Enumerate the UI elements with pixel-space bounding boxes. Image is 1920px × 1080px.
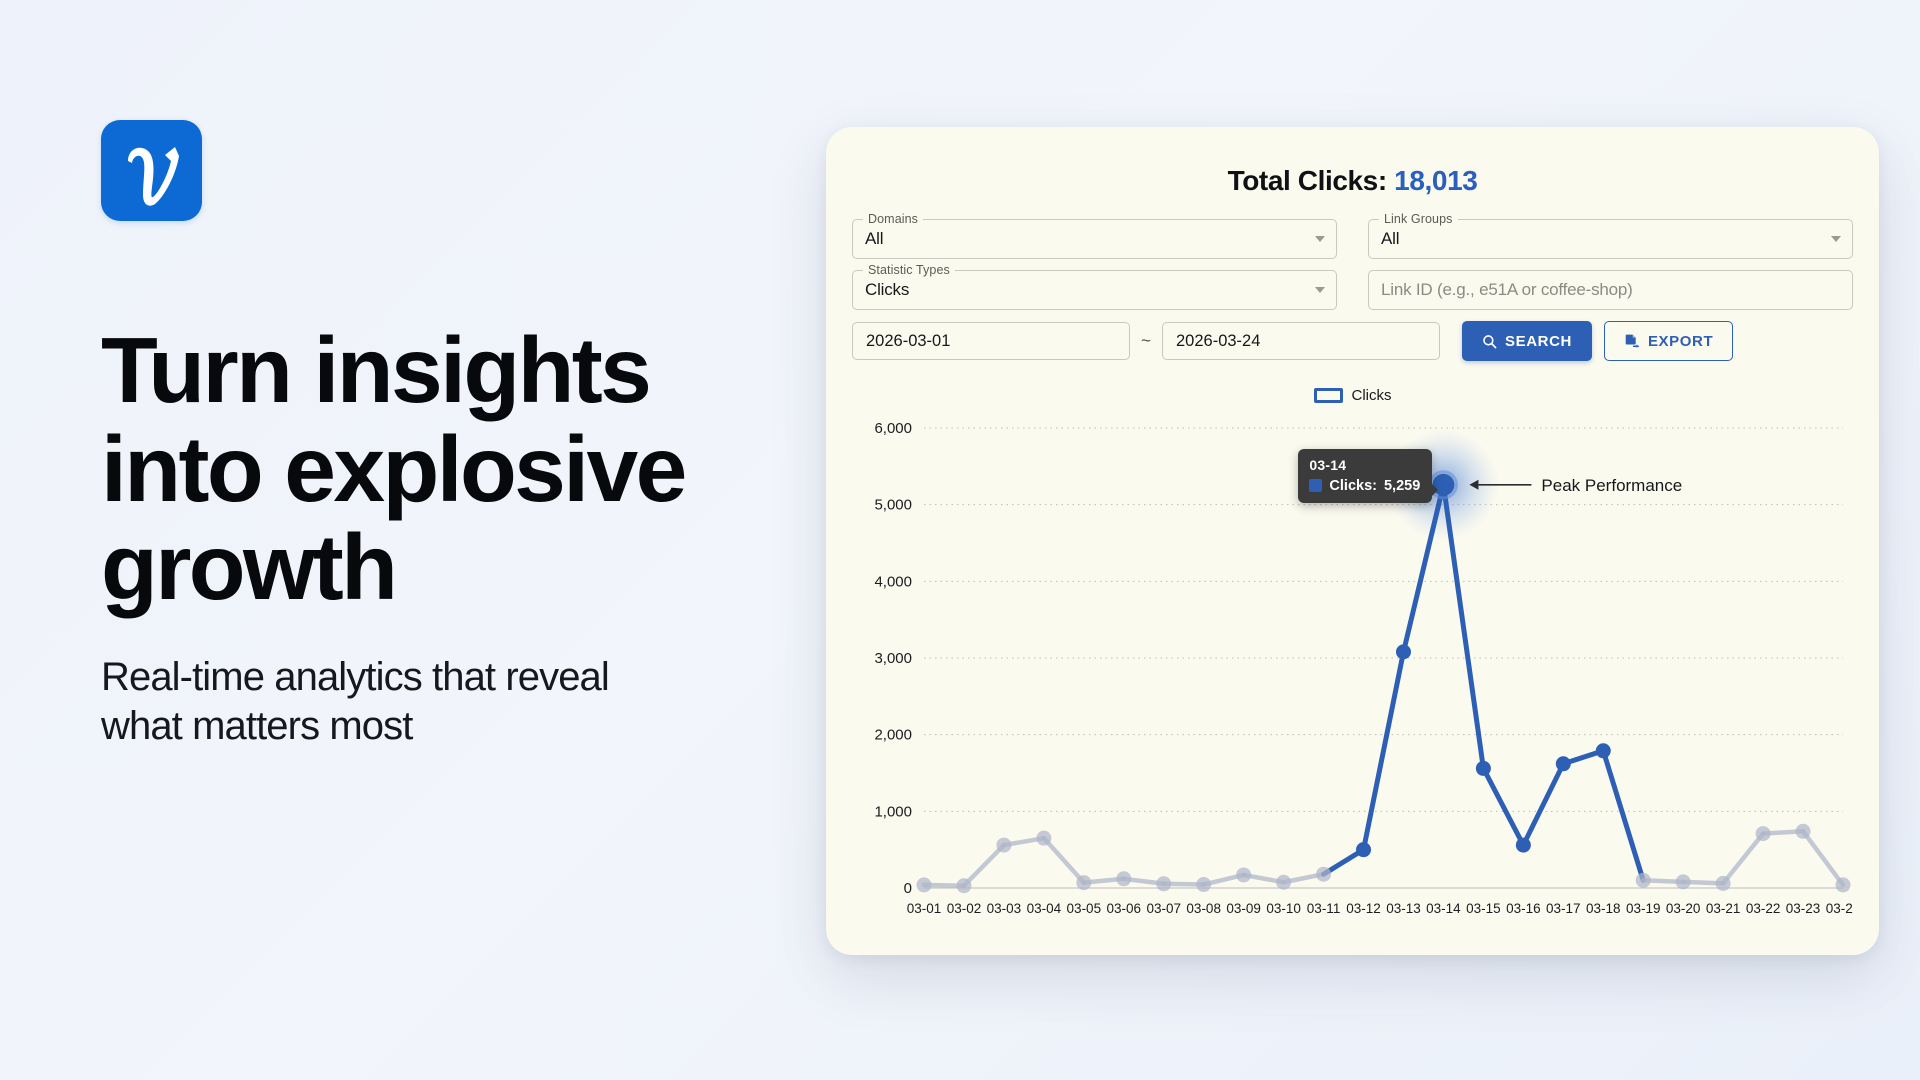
svg-text:03-16: 03-16 xyxy=(1506,901,1541,916)
total-clicks-heading: Total Clicks: 18,013 xyxy=(852,165,1853,197)
svg-text:03-09: 03-09 xyxy=(1226,901,1261,916)
filter-panel: Domains All Link Groups All Statistic Ty… xyxy=(852,219,1853,361)
svg-text:03-24: 03-24 xyxy=(1826,901,1853,916)
filter-row-1: Domains All Link Groups All xyxy=(852,219,1853,259)
link-groups-select[interactable]: Link Groups All xyxy=(1368,219,1853,259)
svg-text:03-19: 03-19 xyxy=(1626,901,1661,916)
tooltip-value: 5,259 xyxy=(1384,478,1420,494)
analytics-card: Total Clicks: 18,013 Domains All Link Gr… xyxy=(826,127,1879,955)
svg-text:3,000: 3,000 xyxy=(874,650,912,667)
svg-text:03-22: 03-22 xyxy=(1746,901,1781,916)
chart-annotations: Peak Performance xyxy=(1469,476,1682,495)
link-id-placeholder: Link ID (e.g., e51A or coffee-shop) xyxy=(1381,280,1633,300)
chevron-down-icon[interactable] xyxy=(1831,236,1841,242)
svg-text:03-15: 03-15 xyxy=(1466,901,1501,916)
total-clicks-value: 18,013 xyxy=(1394,165,1477,196)
svg-text:03-02: 03-02 xyxy=(947,901,982,916)
svg-text:4,000: 4,000 xyxy=(874,573,912,590)
export-button-label: EXPORT xyxy=(1648,333,1713,350)
tooltip-date: 03-14 xyxy=(1309,457,1420,473)
chart-y-axis: 01,0002,0003,0004,0005,0006,000 xyxy=(874,420,912,897)
domains-select[interactable]: Domains All xyxy=(852,219,1337,259)
svg-text:03-04: 03-04 xyxy=(1027,901,1062,916)
search-button[interactable]: SEARCH xyxy=(1462,321,1592,361)
total-clicks-label: Total Clicks: xyxy=(1228,165,1387,196)
chart-tooltip: 03-14 Clicks: 5,259 xyxy=(1298,449,1432,503)
export-file-icon xyxy=(1624,333,1640,349)
filter-row-3: 2026-03-01 ~ 2026-03-24 SEARCH xyxy=(852,321,1853,361)
page-title: Turn insights into explosive growth xyxy=(101,321,741,617)
svg-text:03-21: 03-21 xyxy=(1706,901,1741,916)
tooltip-swatch-icon xyxy=(1309,479,1322,492)
export-button[interactable]: EXPORT xyxy=(1604,321,1733,361)
clicks-line-chart: 03-0103-0203-0303-0403-0503-0603-0703-08… xyxy=(852,412,1853,932)
chevron-down-icon[interactable] xyxy=(1315,287,1325,293)
date-to-input[interactable]: 2026-03-24 xyxy=(1162,322,1440,360)
svg-text:1,000: 1,000 xyxy=(874,803,912,820)
link-groups-value: All xyxy=(1381,229,1399,249)
svg-text:6,000: 6,000 xyxy=(874,420,912,437)
date-range-separator: ~ xyxy=(1130,331,1162,351)
statistic-types-value: Clicks xyxy=(865,280,909,300)
search-button-label: SEARCH xyxy=(1505,333,1572,350)
svg-text:03-06: 03-06 xyxy=(1107,901,1142,916)
domains-label: Domains xyxy=(863,212,923,226)
chevron-down-icon[interactable] xyxy=(1315,236,1325,242)
domains-value: All xyxy=(865,229,883,249)
chart-legend: Clicks xyxy=(852,387,1853,404)
action-buttons: SEARCH EXPORT xyxy=(1462,321,1733,361)
svg-text:03-05: 03-05 xyxy=(1067,901,1102,916)
legend-label-clicks: Clicks xyxy=(1352,387,1392,404)
legend-swatch-clicks[interactable] xyxy=(1314,388,1343,403)
svg-text:03-11: 03-11 xyxy=(1307,901,1341,916)
page-subtitle: Real-time analytics that reveal what mat… xyxy=(101,653,661,751)
chart-x-axis: 03-0103-0203-0303-0403-0503-0603-0703-08… xyxy=(907,901,1853,916)
svg-text:03-07: 03-07 xyxy=(1146,901,1181,916)
link-id-input[interactable]: Link ID (e.g., e51A or coffee-shop) xyxy=(1368,270,1853,310)
filter-row-2: Statistic Types Clicks Link ID (e.g., e5… xyxy=(852,270,1853,310)
svg-text:03-10: 03-10 xyxy=(1266,901,1301,916)
search-icon xyxy=(1482,334,1497,349)
svg-text:03-14: 03-14 xyxy=(1426,901,1461,916)
svg-text:Peak Performance: Peak Performance xyxy=(1541,476,1682,495)
svg-text:03-18: 03-18 xyxy=(1586,901,1621,916)
svg-text:03-12: 03-12 xyxy=(1346,901,1381,916)
date-from-input[interactable]: 2026-03-01 xyxy=(852,322,1130,360)
svg-text:03-20: 03-20 xyxy=(1666,901,1701,916)
svg-text:03-01: 03-01 xyxy=(907,901,942,916)
svg-text:03-03: 03-03 xyxy=(987,901,1022,916)
hero-section: Turn insights into explosive growth Real… xyxy=(101,120,801,750)
svg-text:0: 0 xyxy=(904,880,912,897)
statistic-types-label: Statistic Types xyxy=(863,263,955,277)
svg-text:03-17: 03-17 xyxy=(1546,901,1581,916)
tooltip-series-row: Clicks: 5,259 xyxy=(1309,478,1420,494)
vinyl-v-logo-icon xyxy=(101,120,202,221)
svg-text:03-23: 03-23 xyxy=(1786,901,1821,916)
svg-text:5,000: 5,000 xyxy=(874,497,912,514)
statistic-types-select[interactable]: Statistic Types Clicks xyxy=(852,270,1337,310)
tooltip-series-label: Clicks: xyxy=(1329,478,1377,494)
link-groups-label: Link Groups xyxy=(1379,212,1458,226)
svg-text:2,000: 2,000 xyxy=(874,727,912,744)
svg-text:03-08: 03-08 xyxy=(1186,901,1221,916)
svg-text:03-13: 03-13 xyxy=(1386,901,1421,916)
